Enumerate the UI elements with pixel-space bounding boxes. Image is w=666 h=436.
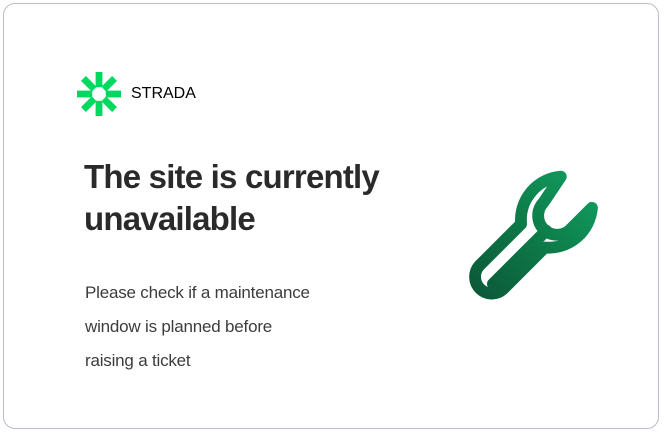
brand-wordmark: STRADA <box>131 85 196 103</box>
status-description-line: Please check if a maintenance <box>85 276 395 310</box>
wrench-icon <box>456 156 620 320</box>
strada-asterisk-icon <box>77 72 121 116</box>
status-card: STRADA The site is currently unavailable… <box>3 3 659 429</box>
status-description-line: raising a ticket <box>85 344 395 378</box>
brand-lockup: STRADA <box>77 72 196 116</box>
page-title: The site is currently unavailable <box>84 156 424 240</box>
status-description-line: window is planned before <box>85 310 395 344</box>
status-description: Please check if a maintenance window is … <box>85 276 395 378</box>
